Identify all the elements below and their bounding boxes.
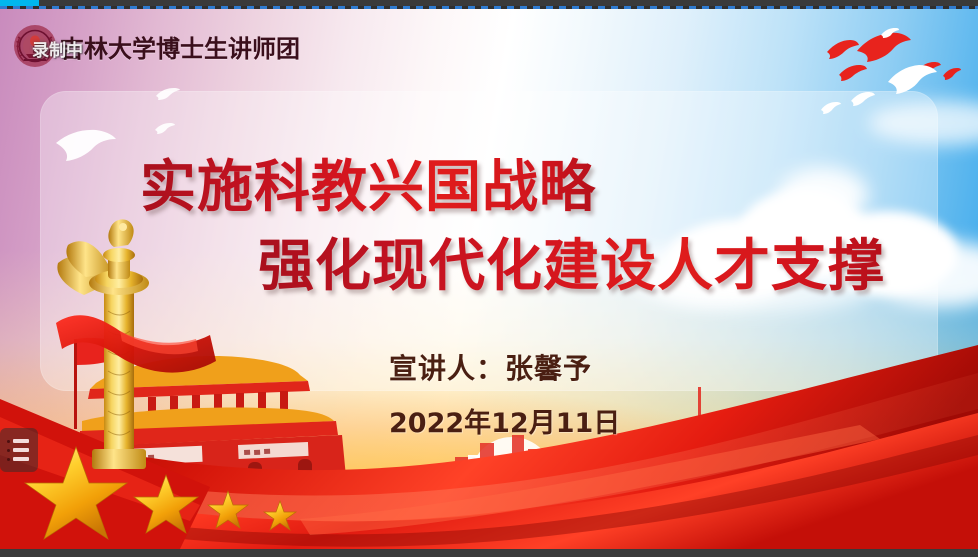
organization-name: 吉林大学博士生讲师团 [60, 29, 300, 64]
dove-white-3 [820, 101, 842, 115]
slide-header: 吉林大学博士生讲师团 录制中 [0, 18, 480, 74]
playlist-row-2 [7, 448, 29, 452]
dove-white-left-1 [54, 127, 118, 163]
playlist-button[interactable] [0, 428, 38, 472]
dove-red-5 [942, 67, 962, 81]
golden-stars [14, 431, 304, 541]
dove-white-left-3 [155, 87, 181, 101]
slide-canvas: 实施科教兴国战略 强化现代化建设人才支撑 宣讲人：张馨予 2022年12月11日 [0, 9, 978, 549]
dove-white-2 [850, 91, 876, 107]
playlist-row-1 [7, 439, 29, 443]
dove-white-1 [886, 64, 938, 96]
dove-white-4 [880, 27, 900, 39]
player-progress-bar[interactable] [0, 0, 978, 6]
recording-indicator: 录制中 [32, 36, 83, 61]
dove-red-2 [826, 39, 860, 61]
selection-dashed-border [0, 6, 978, 9]
playlist-row-3 [7, 457, 29, 461]
dove-red-3 [838, 64, 868, 82]
progress-fill [0, 0, 39, 6]
dove-white-left-2 [154, 122, 176, 135]
player-bottom-bar[interactable] [0, 549, 978, 557]
video-player[interactable]: 实施科教兴国战略 强化现代化建设人才支撑 宣讲人：张馨予 2022年12月11日 [0, 0, 978, 557]
